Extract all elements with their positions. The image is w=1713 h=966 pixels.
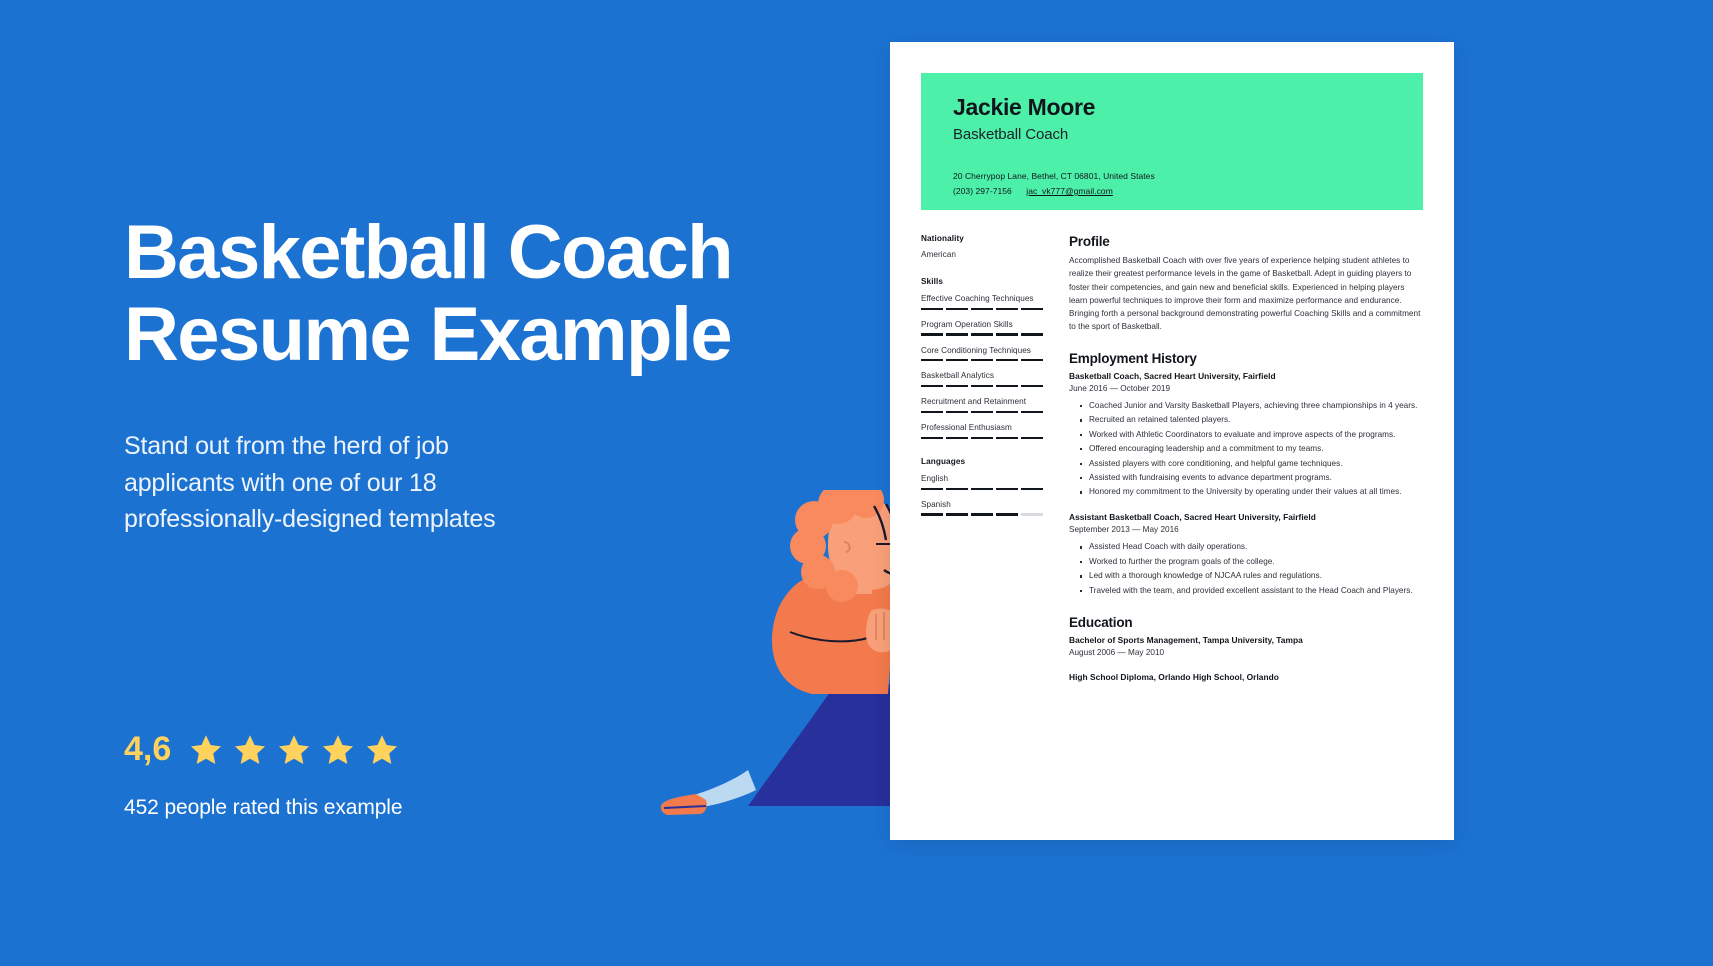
education-entry-title: Bachelor of Sports Management, Tampa Uni… [1069,635,1423,645]
job-bullet: Offered encouraging leadership and a com… [1080,443,1423,456]
nationality-title: Nationality [921,234,1045,243]
job-bullet: Recruited an retained talented players. [1080,414,1423,427]
skill-rating-bar [921,308,1043,310]
rating-segment [971,385,993,387]
job-bullet: Led with a thorough knowledge of NJCAA r… [1080,570,1423,583]
resume-header: Jackie Moore Basketball Coach 20 Cherryp… [921,73,1423,210]
skill-label: Professional Enthusiasm [921,422,1045,434]
subtitle-line-1: Stand out from the herd of job [124,428,564,465]
rating-segment [1021,385,1043,387]
job-title: Assistant Basketball Coach, Sacred Heart… [1069,512,1423,522]
rating-segment [996,437,1018,439]
rating-segment [921,411,943,413]
rating-segment [971,333,993,335]
education-entry-title: High School Diploma, Orlando High School… [1069,672,1423,682]
skill-rating-bar [921,333,1043,335]
language-item: English [921,473,1045,490]
language-label: English [921,473,1045,485]
rating-segment [971,488,993,490]
rating-segment [921,488,943,490]
star-icon [233,733,267,767]
profile-title: Profile [1069,234,1423,249]
job-bullet: Traveled with the team, and provided exc… [1080,585,1423,598]
rating-stars [189,733,399,767]
skill-item: Professional Enthusiasm [921,422,1045,439]
rating-caption: 452 people rated this example [124,796,402,820]
skill-rating-bar [921,359,1043,361]
promo-page: Basketball Coach Resume Example Stand ou… [0,0,1713,966]
rating-segment [996,333,1018,335]
job-date: September 2013 — May 2016 [1069,525,1423,534]
skill-item: Effective Coaching Techniques [921,293,1045,310]
education-section: Education Bachelor of Sports Management,… [1069,615,1423,682]
rating-segment-empty [1021,513,1043,515]
skill-label: Basketball Analytics [921,370,1045,382]
languages-title: Languages [921,457,1045,466]
rating-segment [1021,411,1043,413]
skills-title: Skills [921,277,1045,286]
skill-label: Effective Coaching Techniques [921,293,1045,305]
promo-panel: Basketball Coach Resume Example Stand ou… [124,0,844,966]
rating-segment [946,411,968,413]
star-icon [321,733,355,767]
skill-rating-bar [921,385,1043,387]
job-bullet: Honored my commitment to the University … [1080,486,1423,499]
resume-right-column: Profile Accomplished Basketball Coach wi… [1069,234,1423,682]
nationality-block: Nationality American [921,234,1045,259]
subtitle-line-3: professionally-designed templates [124,501,564,538]
job-date: June 2016 — October 2019 [1069,384,1423,393]
job-bullet: Coached Junior and Varsity Basketball Pl… [1080,400,1423,413]
education-title: Education [1069,615,1423,630]
job-title: Basketball Coach, Sacred Heart Universit… [1069,371,1423,381]
rating-segment [921,385,943,387]
skill-item: Core Conditioning Techniques [921,345,1045,362]
rating-segment [921,513,943,515]
education-entry: Bachelor of Sports Management, Tampa Uni… [1069,635,1423,657]
resume-preview-card[interactable]: Jackie Moore Basketball Coach 20 Cherryp… [890,42,1454,840]
skill-rating-bar [921,411,1043,413]
rating-segment [971,308,993,310]
rating-segment [996,488,1018,490]
rating-segment [1021,333,1043,335]
star-icon [189,733,223,767]
contact-line-2: (203) 297-7156 jac_vk777@gmail.com [953,184,1423,199]
rating-score: 4,6 [124,730,171,769]
employment-section: Employment History Basketball Coach, Sac… [1069,351,1423,598]
contact-email-link[interactable]: jac_vk777@gmail.com [1026,186,1113,196]
rating-segment [921,359,943,361]
job-bullet: Assisted players with core conditioning,… [1080,458,1423,471]
skill-item: Program Operation Skills [921,319,1045,336]
rating-segment [946,488,968,490]
skills-block: Skills Effective Coaching Techniques Pro… [921,277,1045,439]
job-bullet: Assisted with fundraising events to adva… [1080,472,1423,485]
skill-label: Core Conditioning Techniques [921,345,1045,357]
resume-left-column: Nationality American Skills Effective Co… [921,234,1045,682]
profile-section: Profile Accomplished Basketball Coach wi… [1069,234,1423,334]
skill-label: Program Operation Skills [921,319,1045,331]
rating-segment [921,437,943,439]
language-label: Spanish [921,499,1045,511]
languages-block: Languages English Spanish [921,457,1045,516]
rating-segment [946,308,968,310]
employment-title: Employment History [1069,351,1423,366]
resume-candidate-role: Basketball Coach [953,126,1423,143]
rating-segment [1021,488,1043,490]
rating-row: 4,6 [124,730,399,769]
star-icon [365,733,399,767]
rating-segment [996,308,1018,310]
language-rating-bar [921,488,1043,490]
resume-contact-block: 20 Cherrypop Lane, Bethel, CT 06801, Uni… [953,169,1423,198]
nationality-value: American [921,250,1045,259]
skill-item: Recruitment and Retainment [921,396,1045,413]
headline-line-1: Basketball Coach [124,212,824,294]
rating-segment [946,437,968,439]
headline-line-2: Resume Example [124,294,824,376]
rating-segment [1021,359,1043,361]
skill-item: Basketball Analytics [921,370,1045,387]
rating-segment [921,333,943,335]
rating-segment [971,513,993,515]
employment-entry: Assistant Basketball Coach, Sacred Heart… [1069,512,1423,597]
rating-segment [946,513,968,515]
education-entry-date: August 2006 — May 2010 [1069,648,1423,657]
rating-segment [996,411,1018,413]
job-bullet: Worked to further the program goals of t… [1080,556,1423,569]
job-bullet: Assisted Head Coach with daily operation… [1080,541,1423,554]
rating-segment [946,359,968,361]
star-icon [277,733,311,767]
rating-segment [946,333,968,335]
job-bullets: Coached Junior and Varsity Basketball Pl… [1080,400,1423,500]
rating-segment [996,385,1018,387]
employment-entry: Basketball Coach, Sacred Heart Universit… [1069,371,1423,500]
rating-segment [971,359,993,361]
rating-segment [971,437,993,439]
rating-segment [1021,308,1043,310]
skill-label: Recruitment and Retainment [921,396,1045,408]
subtitle-line-2: applicants with one of our 18 [124,465,564,502]
language-item: Spanish [921,499,1045,516]
resume-candidate-name: Jackie Moore [953,95,1423,120]
job-bullet: Worked with Athletic Coordinators to eva… [1080,429,1423,442]
rating-segment [996,513,1018,515]
page-title: Basketball Coach Resume Example [124,212,824,376]
contact-address: 20 Cherrypop Lane, Bethel, CT 06801, Uni… [953,169,1423,184]
education-entry: High School Diploma, Orlando High School… [1069,672,1423,682]
contact-phone: (203) 297-7156 [953,186,1012,196]
promo-subtitle: Stand out from the herd of job applicant… [124,428,564,538]
profile-text: Accomplished Basketball Coach with over … [1069,254,1423,334]
rating-segment [971,411,993,413]
resume-body: Nationality American Skills Effective Co… [921,234,1423,682]
skill-rating-bar [921,437,1043,439]
job-bullets: Assisted Head Coach with daily operation… [1080,541,1423,597]
rating-segment [996,359,1018,361]
rating-segment [1021,437,1043,439]
rating-segment [921,308,943,310]
language-rating-bar [921,513,1043,515]
rating-segment [946,385,968,387]
